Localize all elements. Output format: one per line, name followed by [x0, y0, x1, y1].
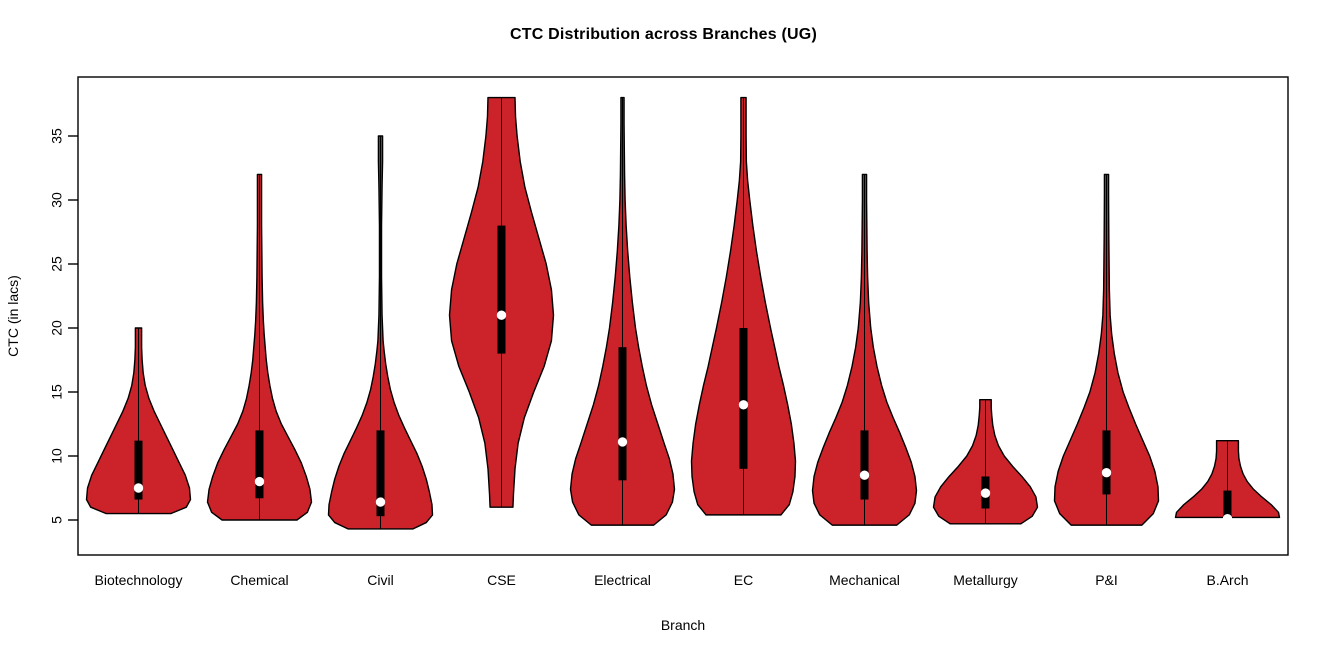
y-tick-label: 35 — [49, 128, 65, 144]
median-point — [981, 489, 989, 497]
x-tick-label-chemical: Chemical — [230, 572, 288, 588]
violin-metallurgy[interactable] — [934, 400, 1038, 524]
x-tick-label-biotechnology: Biotechnology — [95, 572, 183, 588]
violin-biotechnology[interactable] — [87, 328, 191, 514]
median-point — [739, 401, 747, 409]
median-point — [134, 484, 142, 492]
violin-chemical[interactable] — [208, 174, 312, 520]
iqr-box — [861, 430, 869, 499]
x-tick-label-electrical: Electrical — [594, 572, 651, 588]
x-tick-label-cse: CSE — [487, 572, 516, 588]
x-tick-label-ec: EC — [734, 572, 753, 588]
violin-cse[interactable] — [450, 98, 554, 508]
y-tick-label: 20 — [49, 320, 65, 336]
violin-p-i[interactable] — [1055, 174, 1159, 525]
x-axis-title: Branch — [661, 617, 705, 633]
iqr-box — [256, 430, 264, 498]
median-point — [255, 477, 263, 485]
median-point — [618, 438, 626, 446]
violin-b-arch[interactable] — [1176, 441, 1280, 523]
y-tick-label: 25 — [49, 256, 65, 272]
median-point — [497, 311, 505, 319]
violin-mechanical[interactable] — [813, 174, 917, 525]
y-tick-label: 15 — [49, 384, 65, 400]
y-tick-label: 10 — [49, 448, 65, 464]
iqr-box — [740, 328, 748, 469]
x-tick-label-p-i: P&I — [1095, 572, 1118, 588]
iqr-box — [619, 347, 627, 480]
x-tick-label-mechanical: Mechanical — [829, 572, 900, 588]
y-tick-label: 30 — [49, 192, 65, 208]
y-tick-label: 5 — [49, 516, 65, 524]
x-tick-label-b-arch: B.Arch — [1206, 572, 1248, 588]
median-point — [1223, 515, 1231, 523]
violin-plot-figure: CTC Distribution across Branches (UG) 51… — [0, 0, 1327, 653]
iqr-box — [1103, 430, 1111, 494]
violin-electrical[interactable] — [571, 98, 675, 526]
x-tick-label-metallurgy: Metallurgy — [953, 572, 1018, 588]
iqr-box — [498, 226, 506, 354]
violins-layer — [87, 98, 1280, 529]
violin-civil[interactable] — [329, 136, 433, 529]
median-point — [376, 498, 384, 506]
median-point — [860, 471, 868, 479]
violin-ec[interactable] — [692, 98, 796, 515]
chart-canvas: 5101520253035BiotechnologyChemicalCivilC… — [0, 0, 1327, 653]
y-axis-title: CTC (in lacs) — [5, 275, 21, 357]
median-point — [1102, 468, 1110, 476]
x-tick-label-civil: Civil — [367, 572, 393, 588]
